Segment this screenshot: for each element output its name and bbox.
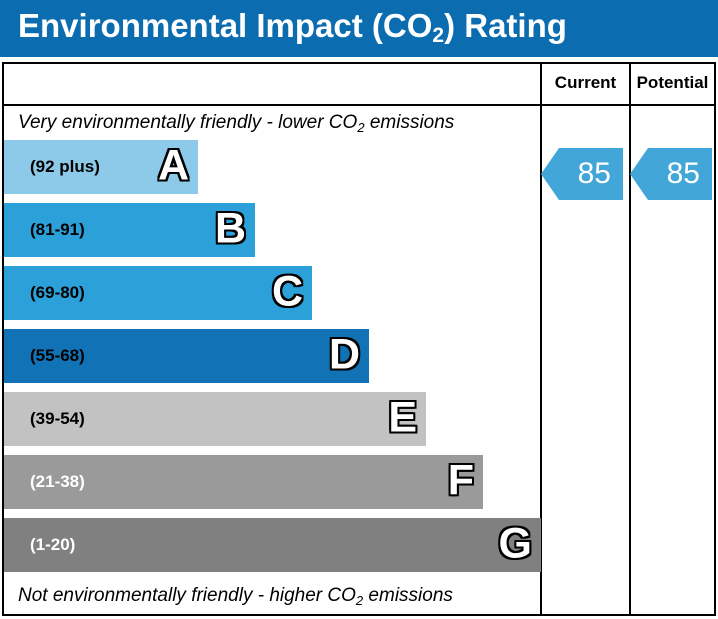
caption-top-subscript: 2 bbox=[357, 120, 364, 135]
caption-top-suffix: emissions bbox=[365, 112, 455, 133]
band-range-e: (39-54) bbox=[30, 409, 85, 429]
caption-bottom-subscript: 2 bbox=[356, 593, 363, 608]
caption-bottom-suffix: emissions bbox=[363, 585, 453, 606]
band-range-a: (92 plus) bbox=[30, 157, 100, 177]
band-letter-c: C bbox=[272, 271, 303, 314]
title-suffix: ) Rating bbox=[444, 7, 567, 44]
potential-rating-value: 85 bbox=[667, 157, 700, 191]
column-header-current: Current bbox=[542, 73, 629, 93]
header-separator bbox=[4, 104, 714, 106]
band-range-f: (21-38) bbox=[30, 472, 85, 492]
band-bar-c: (69-80) C bbox=[4, 266, 312, 320]
band-letter-a: A bbox=[158, 145, 189, 188]
band-letter-g: G bbox=[499, 523, 532, 566]
band-bar-b: (81-91) B bbox=[4, 203, 255, 257]
title-prefix: Environmental Impact (CO bbox=[18, 7, 432, 44]
column-header-potential: Potential bbox=[631, 73, 714, 93]
band-letter-d: D bbox=[329, 334, 360, 377]
band-letter-f: F bbox=[448, 460, 474, 503]
band-letter-e: E bbox=[388, 397, 417, 440]
band-range-d: (55-68) bbox=[30, 346, 85, 366]
band-bar-g: (1-20) G bbox=[4, 518, 541, 572]
title-subscript: 2 bbox=[432, 24, 444, 47]
epc-environmental-impact-chart: Environmental Impact (CO2) Rating Curren… bbox=[0, 0, 718, 619]
caption-bottom-prefix: Not environmentally friendly - higher CO bbox=[18, 585, 356, 606]
band-letter-b: B bbox=[215, 208, 246, 251]
caption-bottom: Not environmentally friendly - higher CO… bbox=[18, 585, 453, 607]
column-divider-potential bbox=[629, 64, 631, 614]
title-bar: Environmental Impact (CO2) Rating bbox=[0, 0, 718, 57]
band-bar-d: (55-68) D bbox=[4, 329, 369, 383]
band-bar-a: (92 plus) A bbox=[4, 140, 198, 194]
chart-frame: Current Potential Very environmentally f… bbox=[2, 62, 716, 616]
caption-top-prefix: Very environmentally friendly - lower CO bbox=[18, 112, 357, 133]
band-range-g: (1-20) bbox=[30, 535, 75, 555]
caption-top: Very environmentally friendly - lower CO… bbox=[18, 112, 454, 134]
current-rating-value: 85 bbox=[578, 157, 611, 191]
band-range-b: (81-91) bbox=[30, 220, 85, 240]
band-range-c: (69-80) bbox=[30, 283, 85, 303]
page-title: Environmental Impact (CO2) Rating bbox=[18, 7, 567, 45]
band-bar-e: (39-54) E bbox=[4, 392, 426, 446]
band-bar-f: (21-38) F bbox=[4, 455, 483, 509]
